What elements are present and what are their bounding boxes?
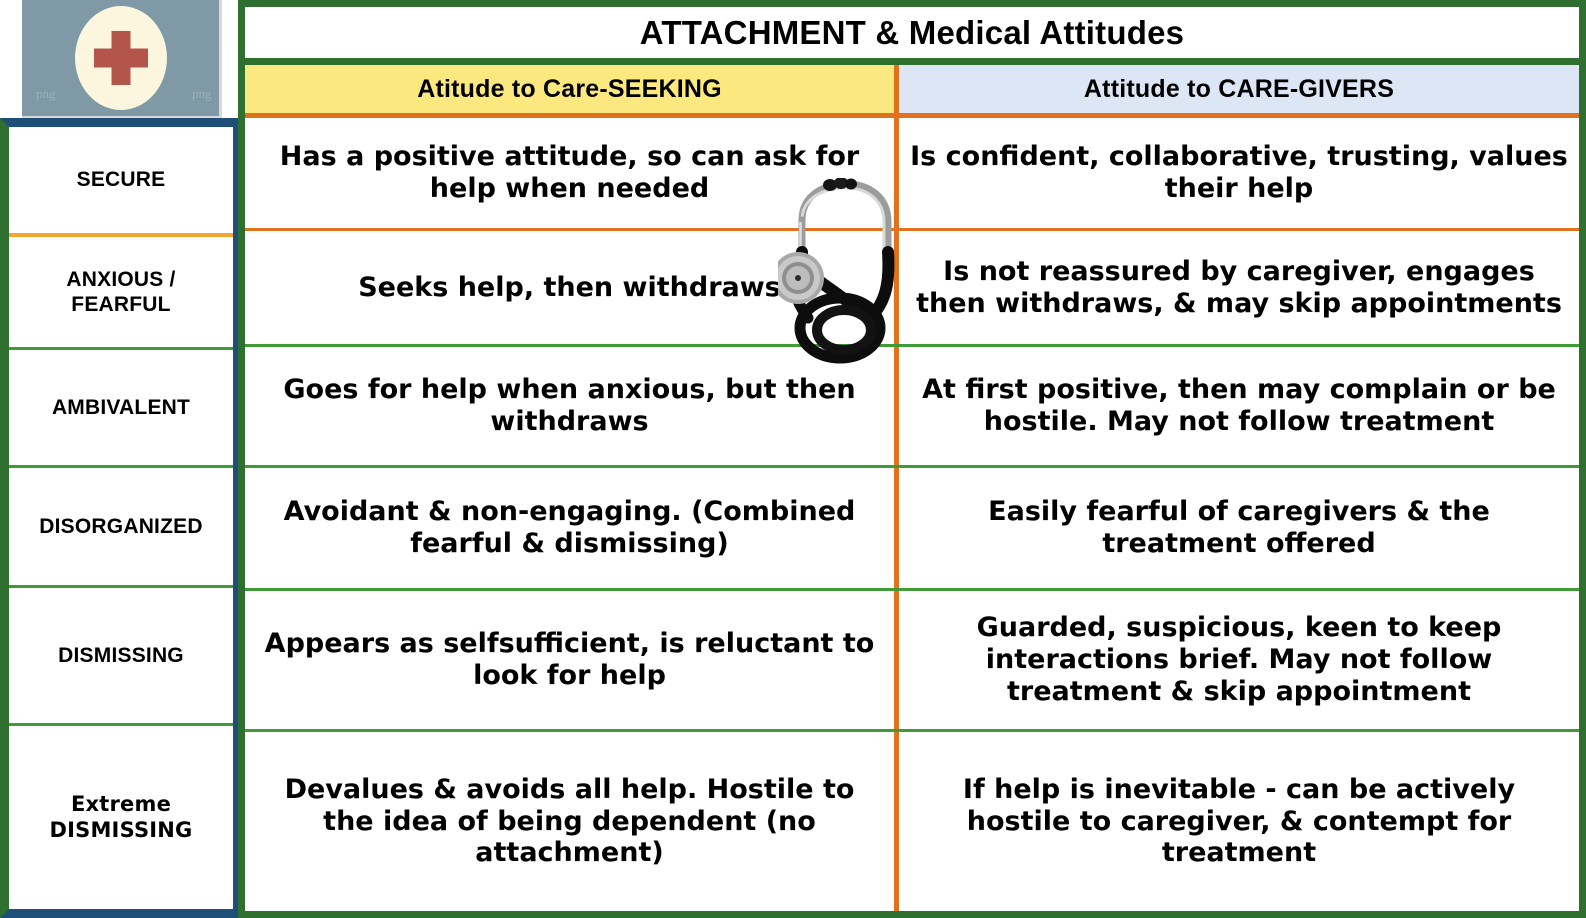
medical-cross-logo: png png png xyxy=(22,0,222,118)
table-row: Appears as selfsufficient, is reluctant … xyxy=(245,591,1579,732)
cell-care-seeking: Has a positive attitude, so can ask for … xyxy=(245,118,899,228)
table-row: Seeks help, then withdraws Is not reassu… xyxy=(245,231,1579,347)
cell-care-seeking: Devalues & avoids all help. Hostile to t… xyxy=(245,732,899,911)
cell-care-givers: Easily fearful of caregivers & the treat… xyxy=(899,468,1579,588)
main-table: ATTACHMENT & Medical Attitudes Atitude t… xyxy=(238,0,1586,918)
page-title: ATTACHMENT & Medical Attitudes xyxy=(640,14,1184,52)
row-label-anxious-fearful: ANXIOUS /FEARFUL xyxy=(9,237,233,350)
table-row: Has a positive attitude, so can ask for … xyxy=(245,118,1579,231)
row-label-extreme-dismissing: ExtremeDISMISSING xyxy=(9,726,233,909)
table-row: Avoidant & non-engaging. (Combined fearf… xyxy=(245,468,1579,591)
column-header-care-seeking: Atitude to Care-SEEKING xyxy=(245,65,899,113)
cell-care-givers: Is confident, collaborative, trusting, v… xyxy=(899,118,1579,228)
table-row: Devalues & avoids all help. Hostile to t… xyxy=(245,732,1579,911)
table-row: Goes for help when anxious, but then wit… xyxy=(245,347,1579,468)
cell-care-givers: Is not reassured by caregiver, engages t… xyxy=(899,231,1579,344)
row-label-secure: SECURE xyxy=(9,127,233,237)
cell-care-givers: Guarded, suspicious, keen to keep intera… xyxy=(899,591,1579,729)
cell-care-givers: At first positive, then may complain or … xyxy=(899,347,1579,465)
column-header-care-givers: Attitude to CARE-GIVERS xyxy=(899,65,1579,113)
table-header-row: Atitude to Care-SEEKING Attitude to CARE… xyxy=(245,65,1579,118)
red-cross-icon-bar xyxy=(94,49,148,68)
table-body: Has a positive attitude, so can ask for … xyxy=(245,118,1579,911)
attachment-style-label-column: SECURE ANXIOUS /FEARFUL AMBIVALENT DISOR… xyxy=(0,118,238,918)
watermark-text: png xyxy=(36,86,56,102)
watermark-text: png xyxy=(192,86,212,102)
table-title-row: ATTACHMENT & Medical Attitudes xyxy=(245,7,1579,65)
cell-care-seeking: Goes for help when anxious, but then wit… xyxy=(245,347,899,465)
cell-care-givers: If help is inevitable - can be actively … xyxy=(899,732,1579,911)
cell-care-seeking: Appears as selfsufficient, is reluctant … xyxy=(245,591,899,729)
cell-care-seeking: Avoidant & non-engaging. (Combined fearf… xyxy=(245,468,899,588)
row-label-ambivalent: AMBIVALENT xyxy=(9,350,233,468)
row-label-dismissing: DISMISSING xyxy=(9,588,233,726)
row-label-disorganized: DISORGANIZED xyxy=(9,468,233,588)
cell-care-seeking: Seeks help, then withdraws xyxy=(245,231,899,344)
attachment-medical-attitudes-table: png png png SECURE ANXIOUS /FEARFUL AMBI… xyxy=(0,0,1586,918)
